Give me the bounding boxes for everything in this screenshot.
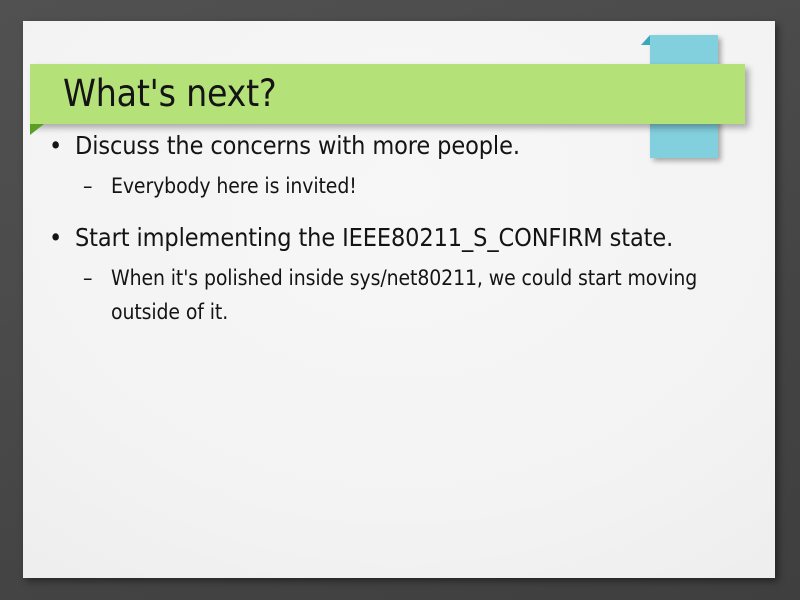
slide-body: • Discuss the concerns with more people.… bbox=[23, 129, 775, 333]
sub-bullet-item: – When it's polished inside sys/net80211… bbox=[23, 261, 775, 329]
content-spacer bbox=[23, 207, 775, 221]
green-title-band: What's next? bbox=[30, 64, 745, 124]
sub-bullet-text: When it's polished inside sys/net80211, … bbox=[111, 261, 731, 329]
bullet-text: Discuss the concerns with more people. bbox=[75, 131, 520, 160]
dash-marker-icon: – bbox=[83, 261, 92, 295]
bullet-marker-icon: • bbox=[49, 221, 62, 255]
slide-canvas: • Discuss the concerns with more people.… bbox=[23, 21, 775, 578]
dash-marker-icon: – bbox=[83, 169, 92, 203]
corner-fold-icon bbox=[641, 35, 650, 45]
sub-bullet-text: Everybody here is invited! bbox=[111, 169, 731, 203]
corner-fold-icon bbox=[30, 124, 44, 135]
bullet-text: Start implementing the IEEE80211_S_CONFI… bbox=[75, 223, 673, 252]
bullet-marker-icon: • bbox=[49, 129, 62, 163]
sub-bullet-item: – Everybody here is invited! bbox=[23, 169, 775, 203]
presentation-viewer: • Discuss the concerns with more people.… bbox=[0, 0, 800, 600]
slide-title: What's next? bbox=[63, 64, 276, 124]
bullet-item: • Start implementing the IEEE80211_S_CON… bbox=[23, 221, 775, 255]
